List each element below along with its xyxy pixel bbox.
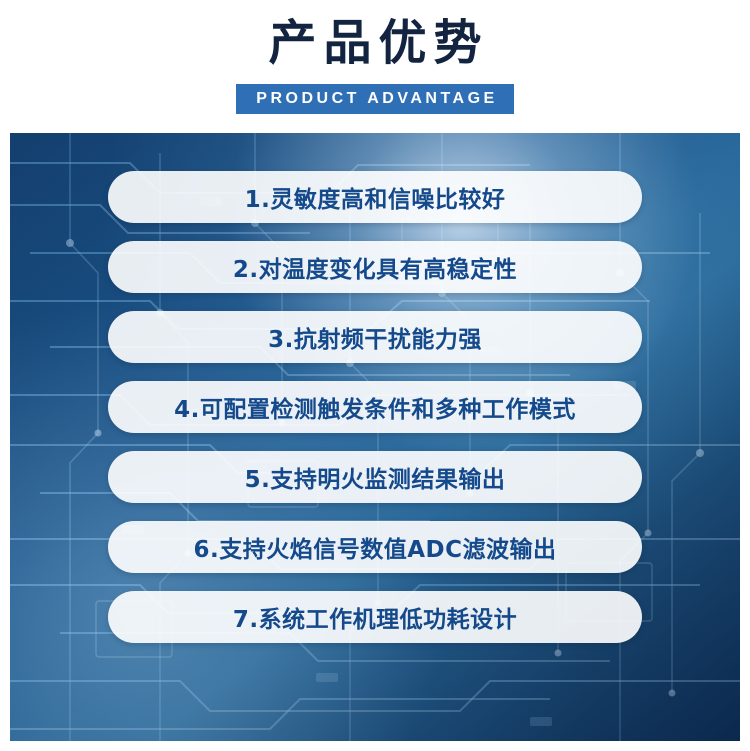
list-item: 3.抗射频干扰能力强 bbox=[108, 311, 642, 363]
page-title: 产品优势 bbox=[261, 14, 488, 72]
list-item: 2.对温度变化具有高稳定性 bbox=[108, 241, 642, 293]
advantage-label: 1.灵敏度高和信噪比较好 bbox=[245, 180, 506, 214]
list-item: 6.支持火焰信号数值ADC滤波输出 bbox=[108, 521, 642, 573]
list-item: 7.系统工作机理低功耗设计 bbox=[108, 591, 642, 643]
advantage-label: 3.抗射频干扰能力强 bbox=[268, 320, 482, 354]
advantage-label: 7.系统工作机理低功耗设计 bbox=[233, 600, 517, 634]
list-item: 1.灵敏度高和信噪比较好 bbox=[108, 171, 642, 223]
page-header: 产品优势 PRODUCT ADVANTAGE bbox=[0, 0, 750, 130]
advantage-label: 6.支持火焰信号数值ADC滤波输出 bbox=[193, 530, 556, 564]
advantage-label: 4.可配置检测触发条件和多种工作模式 bbox=[174, 390, 576, 424]
advantage-list: 1.灵敏度高和信噪比较好 2.对温度变化具有高稳定性 3.抗射频干扰能力强 4.… bbox=[10, 133, 740, 741]
product-advantage-page: 产品优势 PRODUCT ADVANTAGE bbox=[0, 0, 750, 751]
page-subtitle-badge: PRODUCT ADVANTAGE bbox=[236, 84, 513, 114]
list-item: 5.支持明火监测结果输出 bbox=[108, 451, 642, 503]
advantage-label: 2.对温度变化具有高稳定性 bbox=[233, 250, 517, 284]
advantage-label: 5.支持明火监测结果输出 bbox=[245, 460, 506, 494]
list-item: 4.可配置检测触发条件和多种工作模式 bbox=[108, 381, 642, 433]
